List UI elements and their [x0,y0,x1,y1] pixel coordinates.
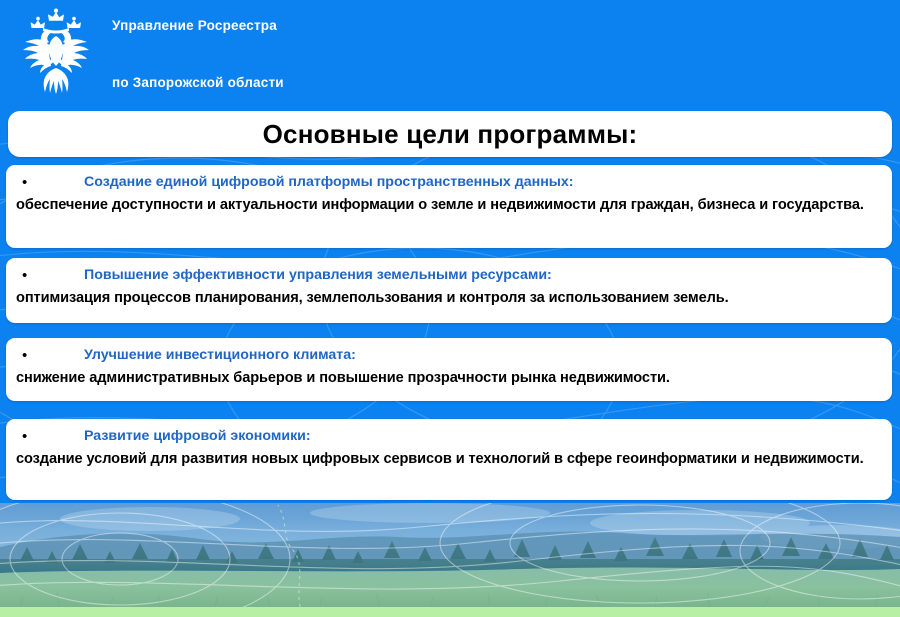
organization-line-1: Управление Росреестра [112,16,284,35]
bullet-icon-2: • [16,266,38,285]
goal-body-4: создание условий для развития новых цифр… [16,450,882,470]
goal-card-4: • Развитие цифровой экономики: создание … [6,419,892,500]
organization-line-2: по Запорожской области [112,73,284,92]
rosreestr-eagle-icon [14,8,98,100]
goal-body-2: оптимизация процессов планирования, земл… [16,289,882,309]
goal-card-2: • Повышение эффективности управления зем… [6,258,892,323]
slide: Управление Росреестра по Запорожской обл… [0,0,900,617]
goal-heading-4: Развитие цифровой экономики: [38,427,311,446]
goal-body-1: обеспечение доступности и актуальности и… [16,196,882,216]
goal-heading-2: Повышение эффективности управления земел… [38,266,552,285]
page-header: Управление Росреестра по Запорожской обл… [0,0,900,108]
title-card: Основные цели программы: [8,111,892,157]
bullet-icon-3: • [16,346,38,365]
goal-card-3: • Улучшение инвестиционного климата: сни… [6,338,892,401]
footer-green-strip [0,607,900,617]
goal-body-3: снижение административных барьеров и пов… [16,369,882,389]
landscape-photo [0,503,900,607]
goal-heading-1: Создание единой цифровой платформы прост… [38,173,574,192]
page-title: Основные цели программы: [263,121,638,147]
bullet-icon-4: • [16,427,38,446]
goal-heading-3: Улучшение инвестиционного климата: [38,346,356,365]
goal-card-1: • Создание единой цифровой платформы про… [6,165,892,248]
bullet-icon-1: • [16,173,38,192]
